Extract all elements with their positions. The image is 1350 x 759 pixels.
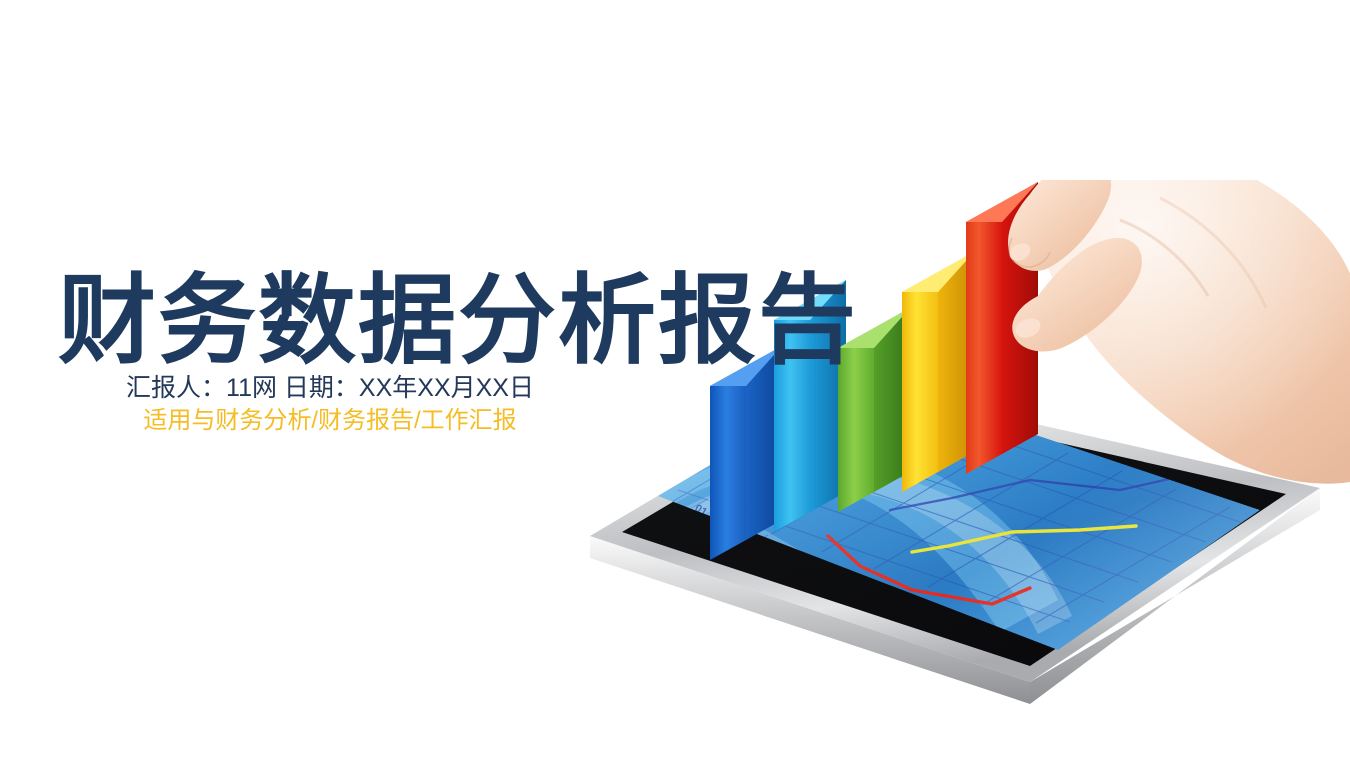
byline: 汇报人：11网 日期：XX年XX月XX日	[0, 372, 660, 404]
tagline: 适用与财务分析/财务报告/工作汇报	[0, 406, 660, 437]
title-text-block: 财务数据分析报告 汇报人：11网 日期：XX年XX月XX日 适用与财务分析/财务…	[0, 272, 790, 437]
page-title: 财务数据分析报告	[0, 272, 790, 368]
bar-04	[902, 252, 974, 492]
presentation-slide: 600 500 400 300 200 100	[0, 0, 1350, 759]
tablet-illustration: 600 500 400 300 200 100	[560, 180, 1350, 740]
